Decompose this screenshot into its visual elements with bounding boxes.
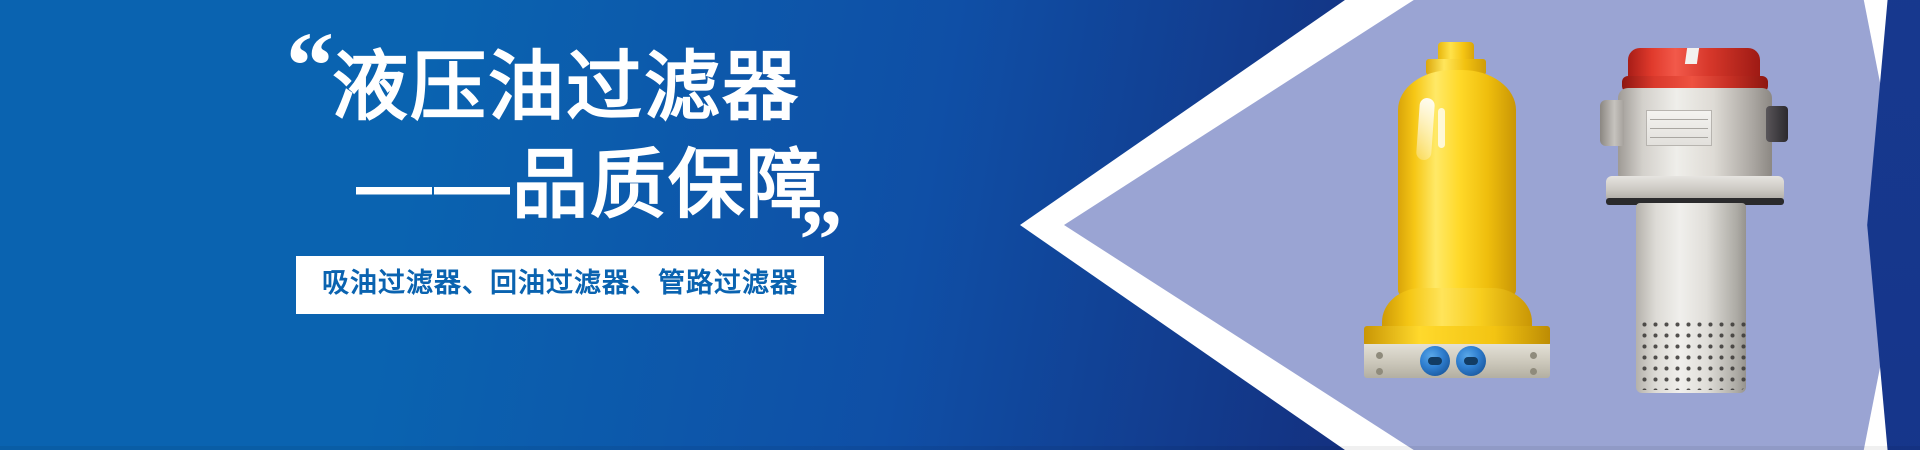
yellow-filter-base-band bbox=[1364, 326, 1550, 346]
yellow-filter-port-left bbox=[1420, 346, 1450, 376]
grey-filter-perforated-section bbox=[1636, 316, 1746, 390]
subtitle-text: 吸油过滤器、回油过滤器、管路过滤器 bbox=[322, 269, 798, 299]
yellow-filter-body bbox=[1398, 70, 1516, 298]
page-title-line-2: ——品质保障 bbox=[332, 146, 824, 226]
subtitle-box: 吸油过滤器、回油过滤器、管路过滤器 bbox=[296, 256, 824, 314]
nameplate-row bbox=[1650, 140, 1708, 146]
yellow-filter-bolt bbox=[1376, 368, 1383, 375]
diamond-right-blue-cap bbox=[1860, 0, 1920, 450]
grey-filter-side-port-right bbox=[1766, 106, 1788, 142]
opening-quote-mark: “ bbox=[286, 18, 330, 114]
nameplate-row bbox=[1650, 122, 1708, 129]
nameplate-row bbox=[1650, 113, 1708, 120]
grey-filter-side-port-left bbox=[1600, 100, 1624, 146]
product-image-grey-red-filter bbox=[1600, 48, 1808, 396]
banner-text-block: “ 液压油过滤器 ——品质保障 „ 吸油过滤器、回油过滤器、管路过滤器 bbox=[0, 0, 1020, 450]
closing-quote-mark: „ bbox=[800, 152, 839, 238]
yellow-filter-bolt bbox=[1530, 352, 1537, 359]
yellow-filter-highlight-secondary bbox=[1438, 108, 1445, 148]
grey-filter-nameplate bbox=[1646, 110, 1712, 146]
yellow-filter-bolt bbox=[1376, 352, 1383, 359]
page-title-line-1: 液压油过滤器 bbox=[332, 48, 800, 128]
hydraulic-filter-promo-banner: “ 液压油过滤器 ——品质保障 „ 吸油过滤器、回油过滤器、管路过滤器 bbox=[0, 0, 1920, 450]
yellow-filter-bolt bbox=[1530, 368, 1537, 375]
yellow-filter-port-right bbox=[1456, 346, 1486, 376]
nameplate-row bbox=[1650, 131, 1708, 138]
grey-filter-cap-notch bbox=[1685, 48, 1699, 64]
product-image-yellow-filter bbox=[1352, 42, 1562, 378]
